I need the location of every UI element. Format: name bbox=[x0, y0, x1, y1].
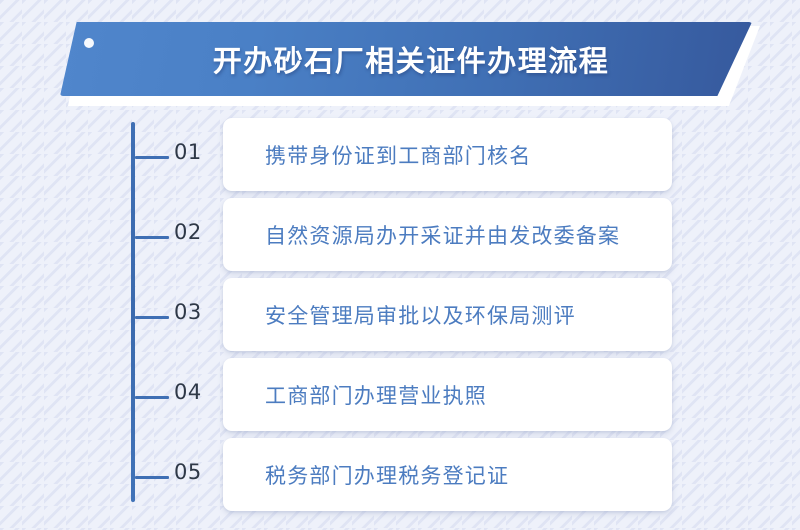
step-card[interactable]: 自然资源局办开采证并由发改委备案 bbox=[223, 198, 672, 271]
header-banner: 开办砂石厂相关证件办理流程 bbox=[60, 16, 760, 108]
step-number: 05 bbox=[174, 460, 216, 484]
step-label: 工商部门办理营业执照 bbox=[265, 380, 487, 410]
timeline-tick-icon bbox=[135, 476, 169, 479]
step-number: 02 bbox=[174, 220, 216, 244]
step-card[interactable]: 工商部门办理营业执照 bbox=[223, 358, 672, 431]
step-number: 03 bbox=[174, 300, 216, 324]
list-item[interactable]: 01 携带身份证到工商部门核名 bbox=[0, 118, 800, 197]
step-label: 税务部门办理税务登记证 bbox=[265, 460, 509, 490]
timeline-tick-icon bbox=[135, 396, 169, 399]
step-card[interactable]: 携带身份证到工商部门核名 bbox=[223, 118, 672, 191]
infographic-page: { "header": { "title": "开办砂石厂相关证件办理流程", … bbox=[0, 0, 800, 530]
step-label: 携带身份证到工商部门核名 bbox=[265, 140, 531, 170]
list-item[interactable]: 02 自然资源局办开采证并由发改委备案 bbox=[0, 198, 800, 277]
timeline-tick-icon bbox=[135, 156, 169, 159]
step-card[interactable]: 税务部门办理税务登记证 bbox=[223, 438, 672, 511]
timeline-step-list: 01 携带身份证到工商部门核名 02 自然资源局办开采证并由发改委备案 03 安… bbox=[0, 118, 800, 518]
list-item[interactable]: 04 工商部门办理营业执照 bbox=[0, 358, 800, 437]
step-label: 自然资源局办开采证并由发改委备案 bbox=[265, 220, 620, 250]
step-label: 安全管理局审批以及环保局测评 bbox=[265, 300, 576, 330]
list-item[interactable]: 05 税务部门办理税务登记证 bbox=[0, 438, 800, 517]
timeline-tick-icon bbox=[135, 316, 169, 319]
list-item[interactable]: 03 安全管理局审批以及环保局测评 bbox=[0, 278, 800, 357]
timeline-tick-icon bbox=[135, 236, 169, 239]
step-number: 01 bbox=[174, 140, 216, 164]
step-card[interactable]: 安全管理局审批以及环保局测评 bbox=[223, 278, 672, 351]
banner-shape: 开办砂石厂相关证件办理流程 bbox=[60, 22, 752, 96]
step-number: 04 bbox=[174, 380, 216, 404]
page-title: 开办砂石厂相关证件办理流程 bbox=[60, 22, 752, 96]
